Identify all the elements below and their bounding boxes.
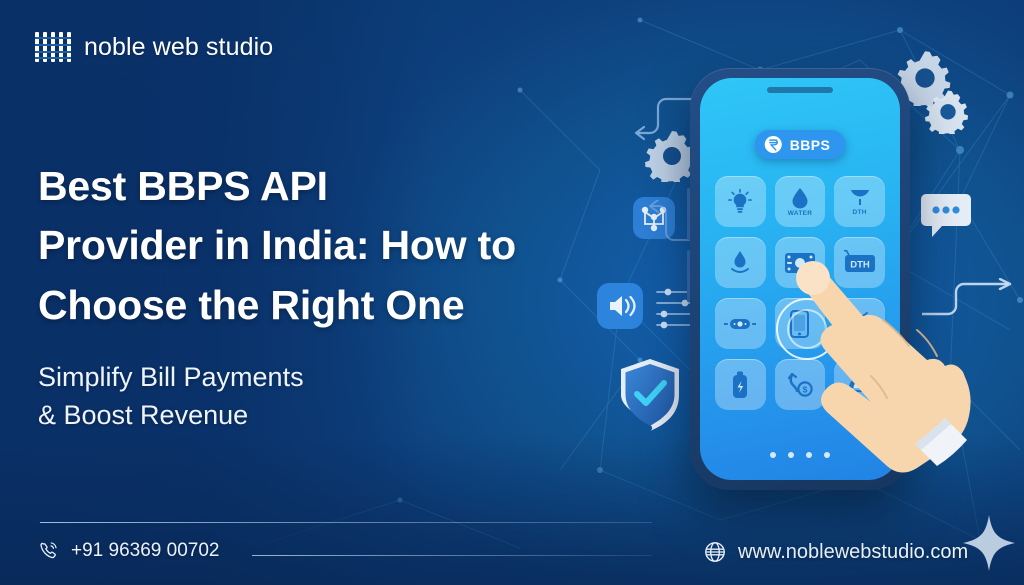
lightbulb-icon [727,188,753,216]
app-tile-broadband[interactable] [715,298,766,349]
bbps-rupee-icon [764,135,783,154]
app-tile-gas[interactable] [715,237,766,288]
subheading-line-1: Simplify Bill Payments [38,358,508,396]
footer-divider-top [40,522,652,523]
app-tile-caption: WATER [788,210,813,217]
globe-icon [703,540,727,564]
phone-speaker-notch [767,87,833,93]
water-drop-icon [791,187,809,209]
contact-phone[interactable]: +91 96369 00702 [38,540,219,562]
subheading: Simplify Bill Payments & Boost Revenue [38,358,508,435]
pointing-hand-icon [775,258,985,483]
headline-line-1: Best BBPS API [38,157,638,216]
subheading-line-2: & Boost Revenue [38,396,508,434]
speaker-icon [597,283,643,329]
bars-logo-icon [35,32,71,62]
headline: Best BBPS API Provider in India: How to … [38,157,638,335]
promo-banner: noble web studio Best BBPS API Provider … [0,0,1024,585]
phone-side-button-down[interactable] [687,250,690,302]
gas-burner-icon [728,249,752,277]
brand-logo[interactable]: noble web studio [35,32,273,62]
app-tile-electricity[interactable] [715,176,766,227]
bbps-badge-label: BBPS [790,137,831,153]
broadband-icon [724,315,756,333]
app-tile-dth[interactable]: DTH [834,176,885,227]
website-link[interactable]: www.noblewebstudio.com [703,540,968,564]
app-tile-lpg[interactable] [715,359,766,410]
app-tile-caption: DTH [853,209,867,216]
gas-cylinder-icon [730,371,750,399]
website-url: www.noblewebstudio.com [738,541,968,564]
shield-check-icon [617,357,683,433]
phone-side-button-up[interactable] [687,188,690,240]
brand-name: noble web studio [84,33,273,62]
sparkle-star-icon [963,515,1015,571]
phone-number: +91 96369 00702 [71,540,219,562]
chat-bubble-icon [920,192,972,240]
gear-icon-right [925,88,971,134]
bbps-badge[interactable]: BBPS [755,130,846,159]
headline-line-3: Choose the Right One [38,276,638,335]
phone-ring-icon [38,540,60,562]
dth-dish-icon [849,188,871,208]
footer-divider-mid [252,555,652,556]
app-tile-water[interactable]: WATER [775,176,826,227]
headline-line-2: Provider in India: How to [38,216,638,275]
